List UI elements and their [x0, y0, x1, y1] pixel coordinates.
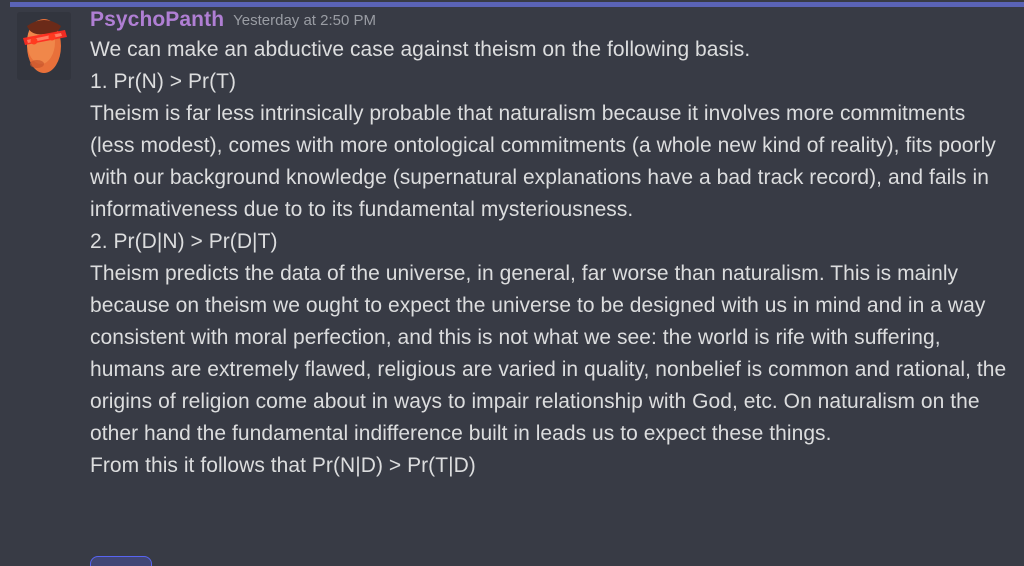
message-line: Theism is far less intrinsically probabl…	[90, 98, 1010, 226]
message-line: 2. Pr(D|N) > Pr(D|T)	[90, 226, 1010, 258]
avatar[interactable]	[17, 12, 71, 80]
reaction-pill[interactable]	[90, 556, 152, 566]
message-line: 1. Pr(N) > Pr(T)	[90, 66, 1010, 98]
message-reactions	[90, 556, 152, 566]
message-line: From this it follows that Pr(N|D) > Pr(T…	[90, 450, 1010, 482]
message-line: We can make an abductive case against th…	[90, 34, 1010, 66]
message-timestamp: Yesterday at 2:50 PM	[233, 8, 376, 34]
chat-message-view: PsychoPanth Yesterday at 2:50 PM We can …	[0, 0, 1024, 566]
message-header: PsychoPanth Yesterday at 2:50 PM	[90, 7, 1010, 33]
avatar-laser-eyes-face-icon	[17, 12, 71, 80]
message-author[interactable]: PsychoPanth	[90, 7, 224, 33]
message-content: We can make an abductive case against th…	[90, 34, 1010, 482]
message-line: Theism predicts the data of the universe…	[90, 258, 1010, 450]
message-body: PsychoPanth Yesterday at 2:50 PM We can …	[90, 7, 1010, 482]
